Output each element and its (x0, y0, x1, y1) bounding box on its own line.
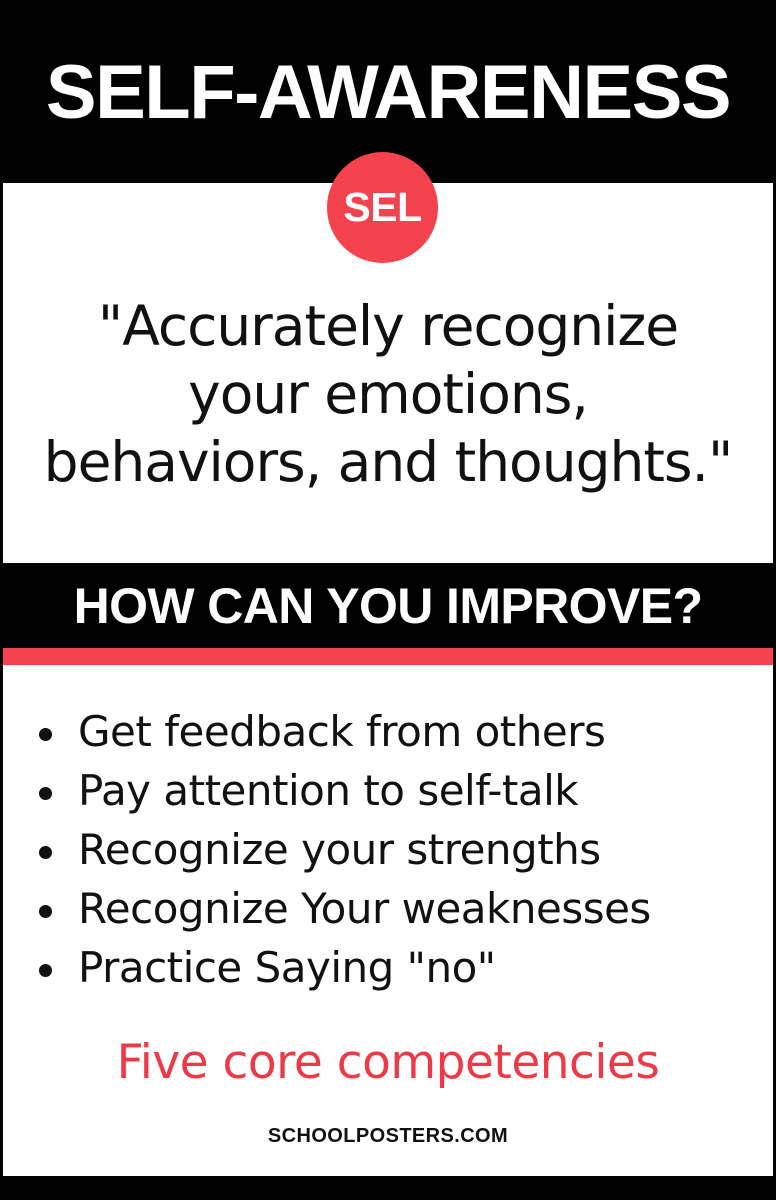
list-item-label: Pay attention to self-talk (78, 766, 578, 815)
list-item-label: Practice Saying "no" (78, 943, 496, 992)
sel-badge: SEL (327, 152, 438, 263)
bullet-dot-icon (39, 728, 52, 741)
quote-line-1: "Accurately recognize (3, 292, 773, 360)
competency-tagline: Five core competencies (3, 1034, 773, 1092)
bullet-dot-icon (39, 846, 52, 859)
list-item: Pay attention to self-talk (34, 763, 744, 822)
section-heading-band: HOW CAN YOU IMPROVE? (0, 563, 776, 648)
red-divider-rule (0, 648, 776, 665)
quote-line-2: your emotions, (3, 360, 773, 428)
bullet-dot-icon (39, 787, 52, 800)
site-credit: SCHOOLPOSTERS.COM (3, 1124, 773, 1148)
sel-badge-label: SEL (327, 185, 438, 229)
list-item: Recognize Your weaknesses (34, 881, 744, 940)
sel-poster: SELF-AWARENESS SEL "Accurately recognize… (0, 0, 776, 1200)
bullet-dot-icon (39, 905, 52, 918)
page-title: SELF-AWARENESS (0, 53, 776, 133)
list-item-label: Recognize Your weaknesses (78, 884, 651, 933)
poster-left-border (0, 0, 3, 1200)
footer-band (0, 1176, 776, 1200)
quote-block: "Accurately recognize your emotions, beh… (3, 292, 773, 496)
section-heading: HOW CAN YOU IMPROVE? (0, 578, 776, 634)
quote-line-3: behaviors, and thoughts." (3, 428, 773, 496)
list-item-label: Get feedback from others (78, 707, 605, 756)
list-item: Get feedback from others (34, 704, 744, 763)
list-item-label: Recognize your strengths (78, 825, 601, 874)
bullet-dot-icon (39, 964, 52, 977)
tips-list: Get feedback from others Pay attention t… (34, 704, 744, 999)
list-item: Recognize your strengths (34, 822, 744, 881)
list-item: Practice Saying "no" (34, 940, 744, 999)
